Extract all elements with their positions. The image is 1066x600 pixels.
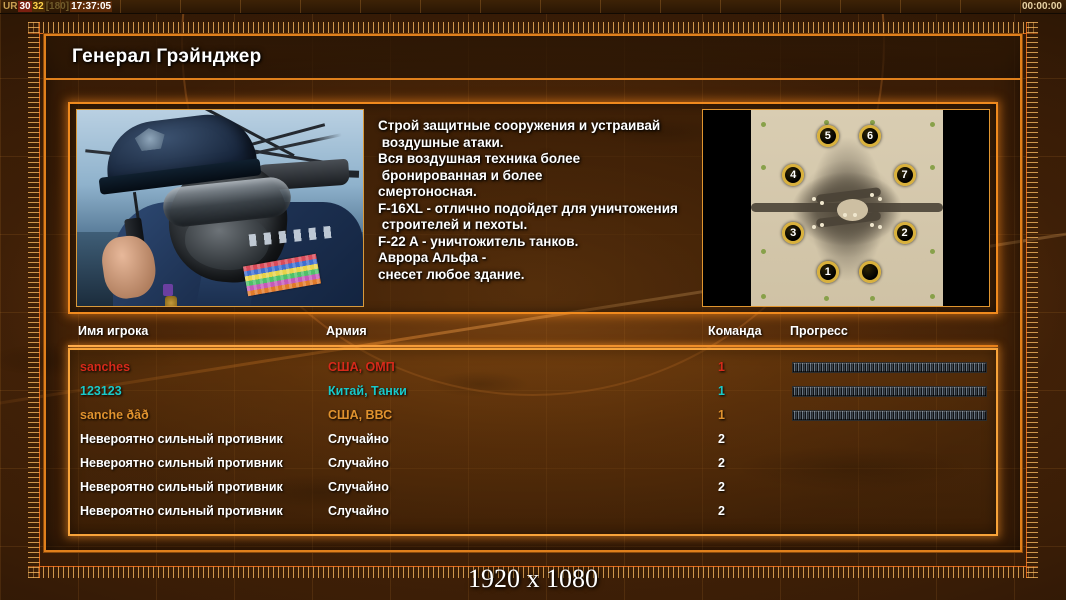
map-start-position-2[interactable]: 2 [894,222,916,244]
column-header-progress: Прогресс [790,324,848,338]
ruler-left [28,22,40,578]
column-header-name: Имя игрока [78,324,148,338]
map-start-position-3[interactable]: 3 [782,222,804,244]
table-row[interactable]: Невероятно сильный противникСлучайно2 [70,500,996,524]
status-value-2: 32 [32,1,45,12]
player-name: 123123 [80,384,122,398]
player-team: 1 [718,384,725,398]
map-start-position-5[interactable]: 5 [817,125,839,147]
table-row[interactable]: Невероятно сильный противникСлучайно2 [70,452,996,476]
player-name: sanches [80,360,130,374]
general-info-row: Строй защитные сооружения и устраивай во… [68,102,998,314]
game-screen: UR3032[180]17:37:05 00:00:00 Генерал Грэ… [0,0,1066,600]
player-name: Невероятно сильный противник [80,456,283,470]
player-army: Случайно [328,456,389,470]
ruler-top [28,22,1038,34]
table-row[interactable]: 123123Китай, Танки1 [70,380,996,404]
match-timer: 00:00:00 [1022,0,1062,14]
status-bar-left: UR3032[180]17:37:05 [2,0,112,14]
status-clock: 17:37:05 [70,1,112,12]
column-header-team: Команда [708,324,762,338]
player-name: sanche ðâð [80,408,149,422]
page-title: Генерал Грэйнджер [72,46,262,68]
map-image: 5647321 [751,110,943,307]
ruler-right [1026,22,1038,578]
table-row[interactable]: Невероятно сильный противникСлучайно2 [70,428,996,452]
player-table-body: sanchesСША, ОМП1123123Китай, Танки1sanch… [68,348,998,536]
column-header-army: Армия [326,324,367,338]
map-start-position-6[interactable]: 6 [859,125,881,147]
status-bar: UR3032[180]17:37:05 00:00:00 [0,0,1066,14]
progress-bar [792,410,987,421]
status-label: UR [2,1,18,12]
player-team: 2 [718,504,725,518]
player-name: Невероятно сильный противник [80,480,283,494]
resolution-label: 1920 x 1080 [0,564,1066,594]
player-army: США, ВВС [328,408,392,422]
player-team: 2 [718,432,725,446]
panel-title-bar: Генерал Грэйнджер [46,36,1020,80]
table-row[interactable]: sanchesСША, ОМП1 [70,356,996,380]
player-team: 1 [718,408,725,422]
player-army: Случайно [328,432,389,446]
table-row[interactable]: Невероятно сильный противникСлучайно2 [70,476,996,500]
status-bar-ticks [0,0,1066,13]
player-team: 2 [718,456,725,470]
player-army: США, ОМП [328,360,395,374]
player-name: Невероятно сильный противник [80,432,283,446]
map-start-position-7[interactable]: 7 [894,164,916,186]
general-portrait [76,109,364,307]
status-value-1: 30 [18,1,31,12]
map-lake [837,199,868,221]
player-army: Случайно [328,480,389,494]
map-preview: 5647321 [702,109,990,307]
status-bracket: [180] [45,1,70,12]
player-table-header: Имя игрока Армия Команда Прогресс [68,324,998,346]
progress-bar [792,386,987,397]
player-team: 2 [718,480,725,494]
general-description: Строй защитные сооружения и устраивай во… [378,118,702,283]
player-team: 1 [718,360,725,374]
loading-panel: Генерал Грэйнджер [44,34,1022,552]
map-start-position-8[interactable] [859,261,881,283]
table-row[interactable]: sanche ðâðСША, ВВС1 [70,404,996,428]
map-start-position-1[interactable]: 1 [817,261,839,283]
medal-icon [165,296,177,307]
progress-bar [792,362,987,373]
player-army: Случайно [328,504,389,518]
player-army: Китай, Танки [328,384,407,398]
player-name: Невероятно сильный противник [80,504,283,518]
medal-icon [163,284,173,296]
